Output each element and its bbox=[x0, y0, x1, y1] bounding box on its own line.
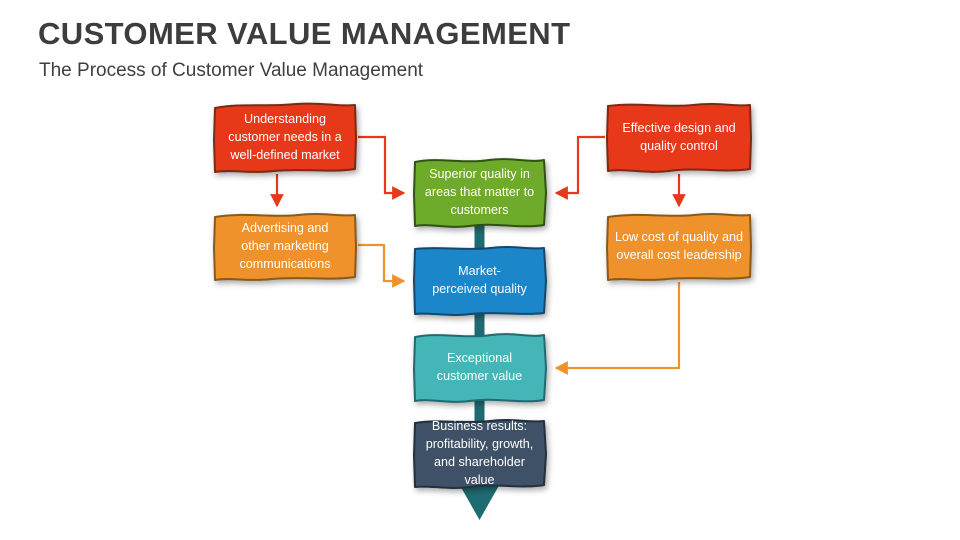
node-label-effective: Effective design and quality control bbox=[613, 120, 745, 156]
node-exceptional-customer-value[interactable]: Exceptional customer value bbox=[411, 332, 548, 404]
node-effective-design[interactable]: Effective design and quality control bbox=[605, 102, 753, 174]
process-diagram: Understanding customer needs in a well-d… bbox=[0, 0, 960, 540]
node-label-advertising: Advertising and other marketing communic… bbox=[220, 220, 350, 274]
node-label-lowcost: Low cost of quality and overall cost lea… bbox=[613, 229, 745, 265]
edge-understanding-to-superior bbox=[358, 137, 404, 193]
slide: CUSTOMER VALUE MANAGEMENT The Process of… bbox=[0, 0, 960, 540]
node-label-business: Business results: profitability, growth,… bbox=[419, 418, 540, 490]
node-market-perceived-quality[interactable]: Market- perceived quality bbox=[411, 245, 548, 317]
node-understanding[interactable]: Understanding customer needs in a well-d… bbox=[212, 102, 358, 174]
node-label-understanding: Understanding customer needs in a well-d… bbox=[220, 111, 350, 165]
node-low-cost-quality[interactable]: Low cost of quality and overall cost lea… bbox=[605, 212, 753, 282]
edge-effective-to-superior bbox=[556, 137, 605, 193]
node-label-market: Market- perceived quality bbox=[419, 263, 540, 299]
edge-lowcost-to-exceptional bbox=[556, 282, 679, 368]
node-superior-quality[interactable]: Superior quality in areas that matter to… bbox=[411, 157, 548, 229]
edge-advertising-to-market bbox=[358, 245, 404, 281]
node-advertising[interactable]: Advertising and other marketing communic… bbox=[212, 212, 358, 282]
node-label-superior: Superior quality in areas that matter to… bbox=[419, 166, 540, 220]
node-business-results[interactable]: Business results: profitability, growth,… bbox=[411, 418, 548, 490]
node-label-exceptional: Exceptional customer value bbox=[419, 350, 540, 386]
